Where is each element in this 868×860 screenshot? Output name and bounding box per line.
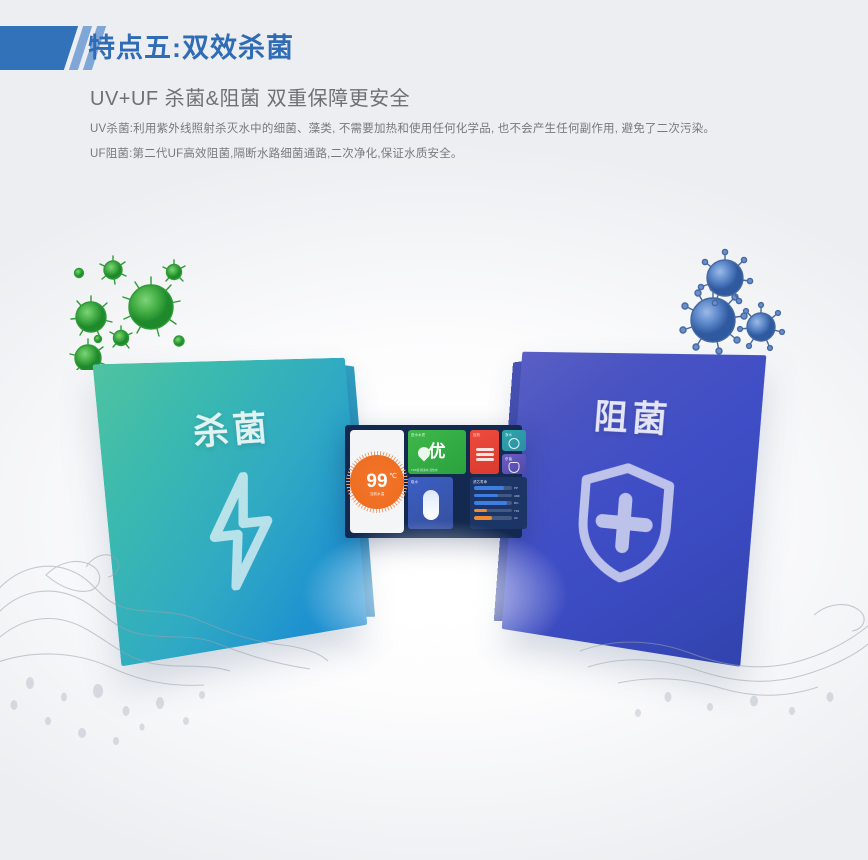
panel-label-antibacterial: 阻菌 — [516, 386, 763, 448]
water-quality-label: 进水水质 — [411, 432, 425, 437]
steam-waves-icon — [476, 448, 494, 462]
filter-bar-track — [474, 494, 512, 497]
filter-bar-fill — [474, 516, 492, 519]
device-dashboard[interactable]: 水质监测 99 ℃ 当前水温 进水水质 优 TDS值 纯净水 直饮水 取水 — [345, 425, 522, 538]
panel-face: 杀菌 — [93, 358, 368, 667]
filter-bar-row: UDF — [474, 494, 523, 498]
page-subtitle: UV+UF 杀菌&阻菌 双重保障更安全 — [90, 82, 410, 111]
marketing-page: 特点五:双效杀菌 UV+UF 杀菌&阻菌 双重保障更安全 UV杀菌:利用紫外线照… — [0, 0, 868, 860]
body-paragraph-1: UV杀菌:利用紫外线照射杀灭水中的细菌、藻类, 不需要加热和使用任何化学品, 也… — [90, 120, 715, 136]
cup-card[interactable]: 取水 — [408, 477, 453, 529]
temperature-dial: 99 ℃ 当前水温 — [350, 455, 404, 509]
water-quality-foot-label: TDS值 纯净水 直饮水 — [411, 468, 438, 472]
temperature-unit: ℃ — [389, 472, 397, 480]
filter-bar-track — [474, 501, 512, 504]
lightning-bolt-icon — [194, 469, 288, 600]
page-title: 特点五:双效杀菌 — [88, 26, 294, 70]
heating-label: 加热 — [473, 432, 480, 437]
filter-bar-fill — [474, 494, 498, 497]
filter-bar-row: RO — [474, 501, 523, 505]
filter-icon — [509, 438, 520, 449]
filter-bar-row: T33 — [474, 509, 523, 513]
cup-label: 取水 — [411, 479, 418, 484]
filter-bar-list: PPUDFROT33UF — [474, 486, 523, 524]
filter-bar-label: UF — [514, 516, 523, 520]
filter-bar-fill — [474, 501, 507, 504]
panel-antibacterial: 阻菌 — [512, 352, 744, 630]
filter-bar-label: UDF — [514, 494, 523, 498]
heating-card[interactable]: 加热 — [470, 430, 499, 474]
filter-bar-row: PP — [474, 486, 523, 490]
filter-bar-track — [474, 509, 512, 512]
filter-bar-track — [474, 486, 512, 489]
shield-icon — [509, 462, 520, 473]
cup-icon — [423, 490, 439, 520]
temperature-sub-label: 当前水温 — [350, 492, 404, 497]
mini-card-shield[interactable]: 杀菌 — [502, 454, 526, 475]
temperature-card[interactable]: 99 ℃ 当前水温 — [350, 430, 404, 533]
filter-bar-fill — [474, 509, 487, 512]
water-quality-card[interactable]: 进水水质 优 TDS值 纯净水 直饮水 — [408, 430, 466, 474]
filter-bar-row: UF — [474, 516, 523, 520]
filter-bar-label: T33 — [514, 509, 523, 513]
mini-card-filter-label: 净水 — [505, 432, 512, 437]
device-right-column: 加热 净水 杀菌 滤芯寿命 — [470, 430, 527, 533]
panel-label-sterilize: 杀菌 — [97, 396, 352, 462]
device-middle-column: 进水水质 优 TDS值 纯净水 直饮水 取水 — [408, 430, 466, 533]
filter-bar-label: PP — [514, 486, 523, 490]
mini-card-shield-label: 杀菌 — [505, 456, 512, 461]
shield-plus-icon — [570, 458, 679, 595]
filter-bar-label: RO — [514, 501, 523, 505]
water-quality-value: 优 — [408, 443, 466, 460]
header: 特点五:双效杀菌 UV+UF 杀菌&阻菌 双重保障更安全 UV杀菌:利用紫外线照… — [0, 0, 868, 180]
filter-bar-fill — [474, 486, 504, 489]
panel-face: 阻菌 — [502, 352, 767, 667]
filter-bar-track — [474, 516, 512, 519]
temperature-value: 99 — [366, 472, 387, 491]
filter-life-card[interactable]: 滤芯寿命 PPUDFROT33UF — [470, 477, 527, 529]
filter-life-title: 滤芯寿命 — [473, 479, 487, 484]
mini-card-filter[interactable]: 净水 — [502, 430, 526, 451]
panel-sterilize: 杀菌 — [118, 358, 356, 626]
body-paragraph-2: UF阻菌:第二代UF高效阻菌,隔断水路细菌通路,二次净化,保证水质安全。 — [90, 145, 463, 161]
